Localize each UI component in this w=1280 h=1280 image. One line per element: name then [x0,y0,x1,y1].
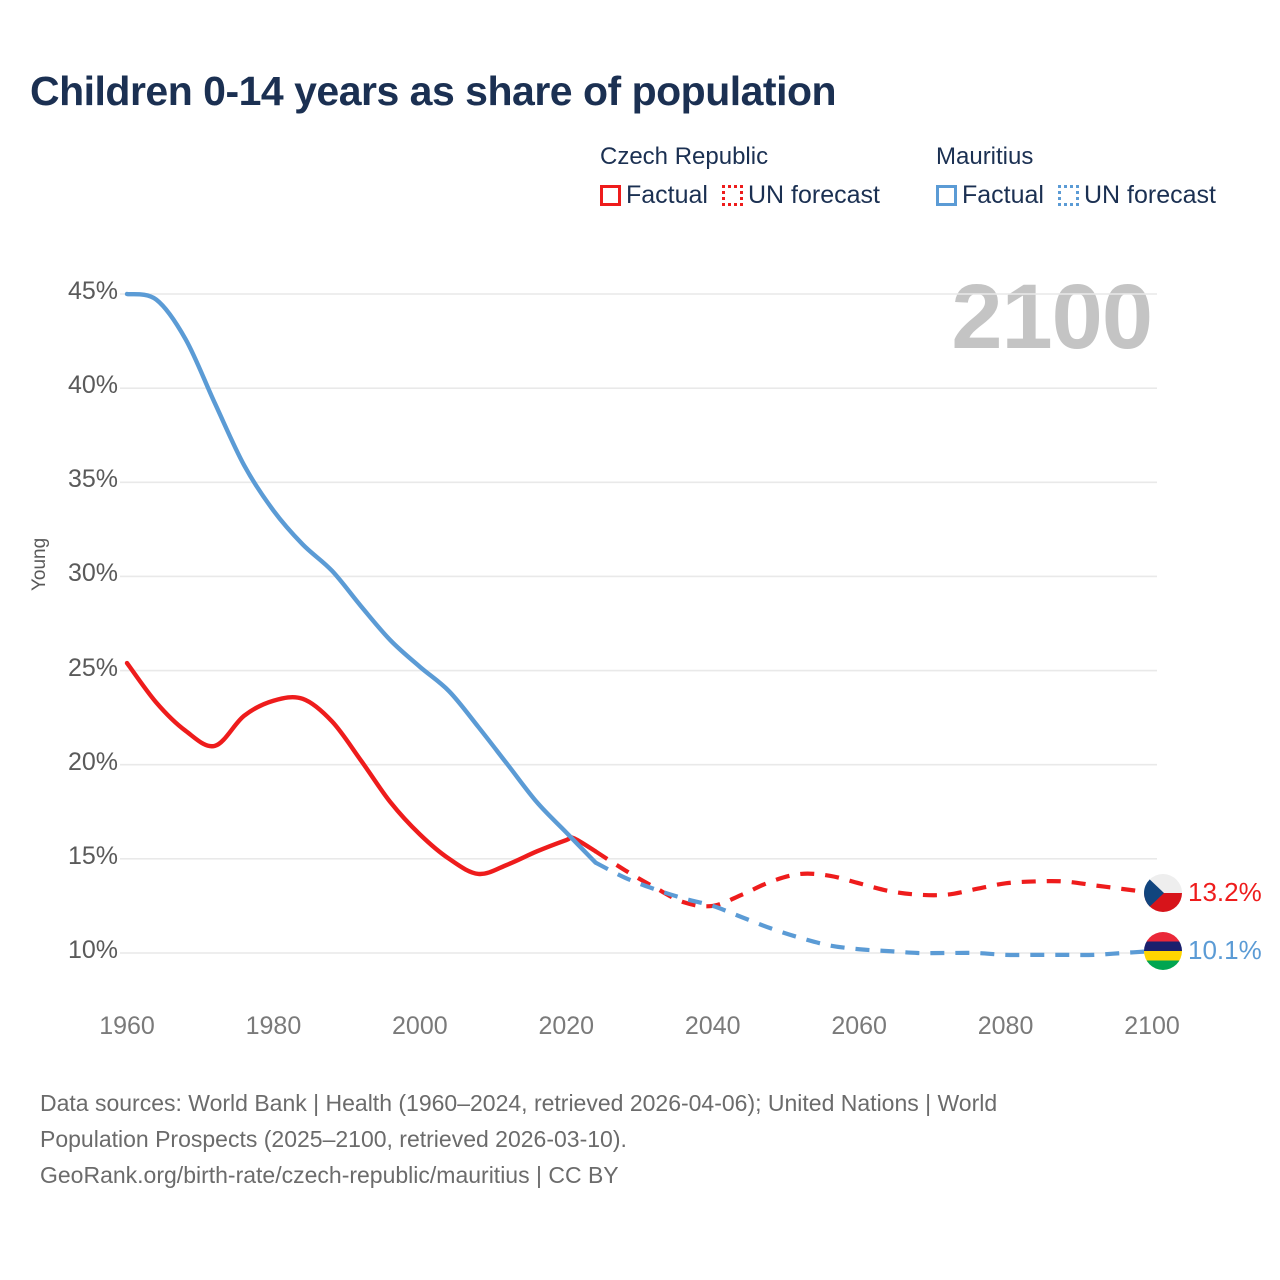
footer-line-3: GeoRank.org/birth-rate/czech-republic/ma… [40,1157,1220,1193]
end-label-czech-republic: 13.2% [1188,877,1262,908]
footer-line-2: Population Prospects (2025–2100, retriev… [40,1121,1220,1157]
footer-line-1: Data sources: World Bank | Health (1960–… [40,1085,1220,1121]
mauritius-flag-icon [1144,932,1182,970]
czech-republic-flag-icon [1144,874,1182,912]
series-line-czech-republic-factual [127,663,596,874]
series-line-mauritius-factual [127,294,596,863]
chart-container: Children 0-14 years as share of populati… [0,0,1280,1280]
footer-sources: Data sources: World Bank | Health (1960–… [40,1085,1220,1193]
end-label-mauritius: 10.1% [1188,935,1262,966]
series-line-mauritius-un-forecast [596,863,1152,955]
